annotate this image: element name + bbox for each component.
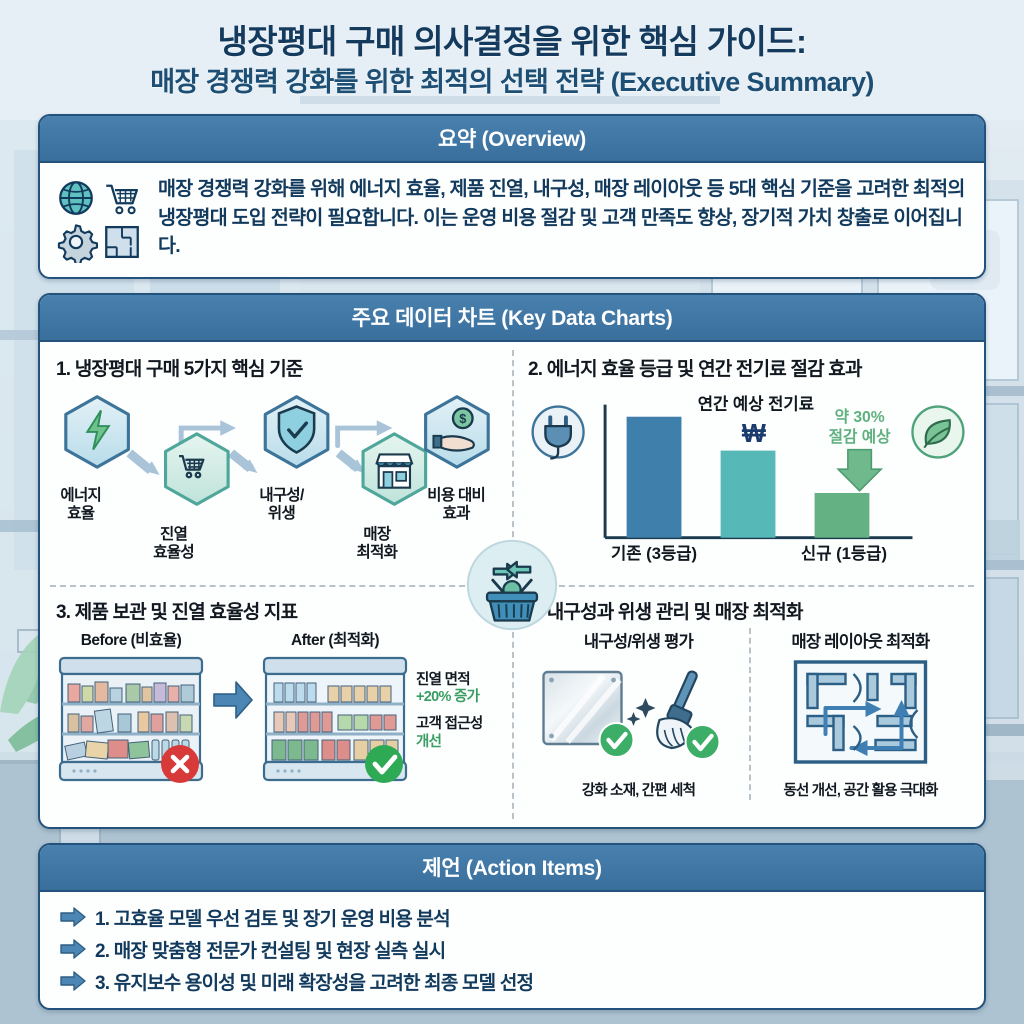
cooler-before-illustration — [56, 652, 206, 784]
actions-heading: 제언 (Action Items) — [40, 845, 984, 892]
hex-store-optimization — [363, 434, 426, 504]
hex-label-display: 진열효율성 — [153, 526, 194, 562]
q2-series-label: 연간 예상 전기료 — [698, 395, 814, 414]
right-arrow-icon — [60, 939, 86, 959]
q4-left-heading: 내구성/위생 평가 — [532, 628, 745, 652]
q3-title: 3. 제품 보관 및 진열 효율성 지표 — [56, 597, 498, 624]
svg-text:$: $ — [459, 411, 466, 426]
sparkle-icon — [627, 698, 656, 726]
globe-icon — [54, 177, 98, 219]
overview-heading: 요약 (Overview) — [40, 116, 984, 163]
overview-body-text: 매장 경쟁력 강화를 위해 에너지 효율, 제품 진열, 내구성, 매장 레이아… — [158, 175, 968, 260]
q4-right-footer: 동선 개선, 공간 활용 극대화 — [755, 779, 966, 800]
leaf-icon — [912, 407, 963, 458]
action-item-row[interactable]: 2. 매장 맞춤형 전문가 컨설팅 및 현장 실측 실시 — [40, 933, 984, 965]
note-2-line1: 고객 접근성 — [416, 716, 483, 733]
cooler-after-illustration — [260, 652, 410, 784]
power-plug-icon — [533, 407, 584, 459]
hex-energy-efficiency — [66, 397, 129, 467]
chart-quadrant-4: 4. 내구성과 위생 관리 및 매장 최적화 내구성/위생 평가 — [512, 585, 984, 827]
hex-label-cost: 비용 대비효과 — [427, 487, 485, 523]
charts-panel: 주요 데이터 차트 (Key Data Charts) — [38, 293, 986, 829]
q2-title: 2. 에너지 효율 등급 및 연간 전기료 절감 효과 — [528, 354, 970, 381]
charts-heading: 주요 데이터 차트 (Key Data Charts) — [40, 295, 984, 342]
bar-existing — [627, 417, 682, 538]
bar-new — [815, 493, 870, 538]
right-arrow-icon — [212, 642, 254, 774]
check-badge-left — [600, 723, 634, 757]
overview-panel: 요약 (Overview) — [38, 114, 986, 279]
hex-label-energy: 에너지효율 — [60, 487, 101, 523]
check-badge-right — [686, 725, 720, 759]
chart-quadrant-2: 2. 에너지 효율 등급 및 연간 전기료 절감 효과 — [512, 342, 984, 584]
note-2-line2: 개선 — [416, 734, 483, 751]
after-column: After (최적화) — [260, 628, 410, 789]
hex-durability-hygiene — [265, 397, 328, 467]
note-1-line1: 진열 면적 — [416, 672, 483, 689]
before-column: Before (비효율) — [56, 628, 206, 789]
action-item-text: 2. 매장 맞춤형 전문가 컨설팅 및 현장 실측 실시 — [95, 936, 445, 963]
hex-cost-effectiveness: $ — [426, 397, 489, 467]
energy-savings-bar-chart: 연간 예상 전기료 ₩ 약 30% 절감 예상 기존 (3등급) 신규 (1등급… — [528, 385, 970, 571]
q2-callout-line2: 절감 예상 — [829, 427, 892, 446]
action-item-row[interactable]: 3. 유지보수 용이성 및 미래 확장성을 고려한 최종 모델 선정 — [40, 965, 984, 997]
hex-label-durability: 내구성/위생 — [259, 487, 303, 523]
q2-bar-chart: 연간 예상 전기료 ₩ 약 30% 절감 예상 기존 (3등급) 신규 (1등급… — [528, 385, 970, 571]
check-mark-badge — [365, 745, 403, 783]
q4-left-footer: 강화 소재, 간편 세척 — [532, 779, 745, 800]
action-item-row[interactable]: 1. 고효율 모델 우선 검토 및 장기 운영 비용 분석 — [40, 901, 984, 933]
chart-quadrant-1: 1. 냉장평대 구매 5가지 핵심 기준 — [40, 342, 512, 584]
gear-icon — [54, 221, 98, 263]
q3-notes: 진열 면적 +20% 증가 고객 접근성 개선 — [416, 628, 483, 752]
after-caption: After (최적화) — [260, 628, 410, 650]
q2-callout-line1: 약 30% — [835, 408, 885, 427]
page-title: 냉장평대 구매 의사결정을 위한 핵심 가이드: 매장 경쟁력 강화를 위한 최… — [38, 10, 986, 100]
floor-plan-flow-icon — [755, 654, 966, 772]
right-arrow-icon — [60, 907, 86, 927]
action-item-text: 1. 고효율 모델 우선 검토 및 장기 운영 비용 분석 — [95, 904, 450, 931]
q2-tick-existing: 기존 (3등급) — [611, 545, 697, 564]
q4-title: 4. 내구성과 위생 관리 및 매장 최적화 — [528, 597, 970, 624]
down-arrow-icon — [838, 450, 881, 491]
bar-middle — [721, 451, 776, 538]
floor-plan-icon — [100, 221, 144, 263]
chart-quadrant-3: 3. 제품 보관 및 진열 효율성 지표 Before (비효율) — [40, 585, 512, 827]
won-symbol: ₩ — [742, 420, 767, 448]
q4-right-column: 매장 레이아웃 최적화 — [749, 628, 970, 800]
overview-icon-grid — [54, 175, 144, 263]
q4-right-heading: 매장 레이아웃 최적화 — [755, 628, 966, 652]
q2-tick-new: 신규 (1등급) — [801, 545, 887, 564]
action-items-panel: 제언 (Action Items) 1. 고효율 모델 우선 검토 및 장기 운… — [38, 843, 986, 1010]
hex-display-efficiency — [166, 434, 229, 504]
before-caption: Before (비효율) — [56, 628, 206, 650]
hex-label-store: 매장최적화 — [357, 526, 398, 562]
note-1-line2: +20% 증가 — [416, 689, 483, 706]
shopping-basket-exchange-icon — [464, 537, 560, 633]
right-arrow-icon — [60, 971, 86, 991]
action-item-text: 3. 유지보수 용이성 및 미래 확장성을 고려한 최종 모델 선정 — [95, 968, 533, 995]
title-sub-line: 매장 경쟁력 강화를 위한 최적의 선택 전략 (Executive Summa… — [38, 65, 986, 100]
q1-title: 1. 냉장평대 구매 5가지 핵심 기준 — [56, 354, 498, 381]
q1-hex-flow: $ 에너지효율 진열효율성 내구성/위생 매장최적화 비용 대비효과 — [56, 385, 498, 561]
shopping-cart-icon — [100, 177, 144, 219]
title-main-line: 냉장평대 구매 의사결정을 위한 핵심 가이드: — [38, 22, 986, 62]
five-criteria-flow-diagram: $ — [56, 385, 498, 561]
q4-left-column: 내구성/위생 평가 — [528, 628, 749, 800]
durability-hygiene-illustration — [532, 654, 745, 772]
